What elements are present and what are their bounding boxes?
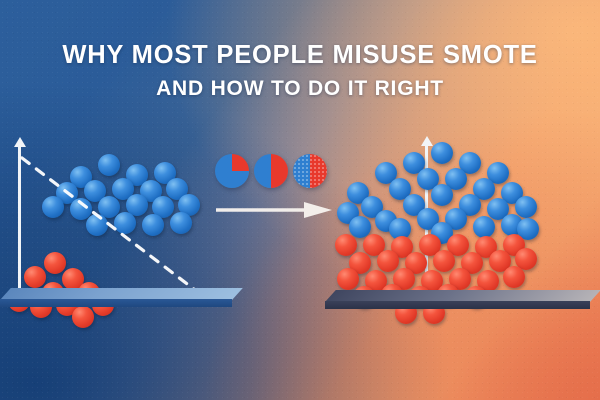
smote-progression-group [210, 150, 340, 232]
minority-dot-20 [503, 266, 525, 288]
majority-dot-0 [431, 142, 453, 164]
minority-dot-10 [433, 250, 455, 272]
title-primary: WHY MOST PEOPLE MISUSE SMOTE [0, 40, 600, 70]
title-block: WHY MOST PEOPLE MISUSE SMOTE AND HOW TO … [0, 40, 600, 103]
majority-dot-17 [142, 214, 164, 236]
pie-chart-dotted-icon-synthetic [293, 154, 327, 188]
majority-dot-0 [98, 154, 120, 176]
minority-dot-8 [377, 250, 399, 272]
majority-dot-18 [170, 212, 192, 234]
right-platform-slab-icon [325, 290, 590, 314]
y-axis-arrow-icon [18, 145, 21, 293]
pie-chart-icon-balanced [254, 154, 288, 188]
pie-chart-icon-imbalanced [215, 154, 249, 188]
majority-dot-16 [515, 196, 537, 218]
left-platform-front [0, 299, 232, 307]
left-platform-slab-icon [0, 288, 232, 310]
right-arrow-icon [216, 200, 332, 220]
majority-dot-23 [473, 216, 495, 238]
minority-dot-14 [337, 268, 359, 290]
title-secondary: AND HOW TO DO IT RIGHT [0, 75, 600, 103]
right-platform-front [325, 301, 590, 309]
majority-dot-16 [114, 212, 136, 234]
minority-dot-0 [44, 252, 66, 274]
majority-dot-9 [42, 196, 64, 218]
pie-synthetic-texture [293, 154, 327, 188]
majority-dot-11 [431, 184, 453, 206]
minority-dot-1 [24, 266, 46, 288]
infographic-canvas: WHY MOST PEOPLE MISUSE SMOTE AND HOW TO … [0, 0, 600, 400]
majority-dot-15 [86, 214, 108, 236]
